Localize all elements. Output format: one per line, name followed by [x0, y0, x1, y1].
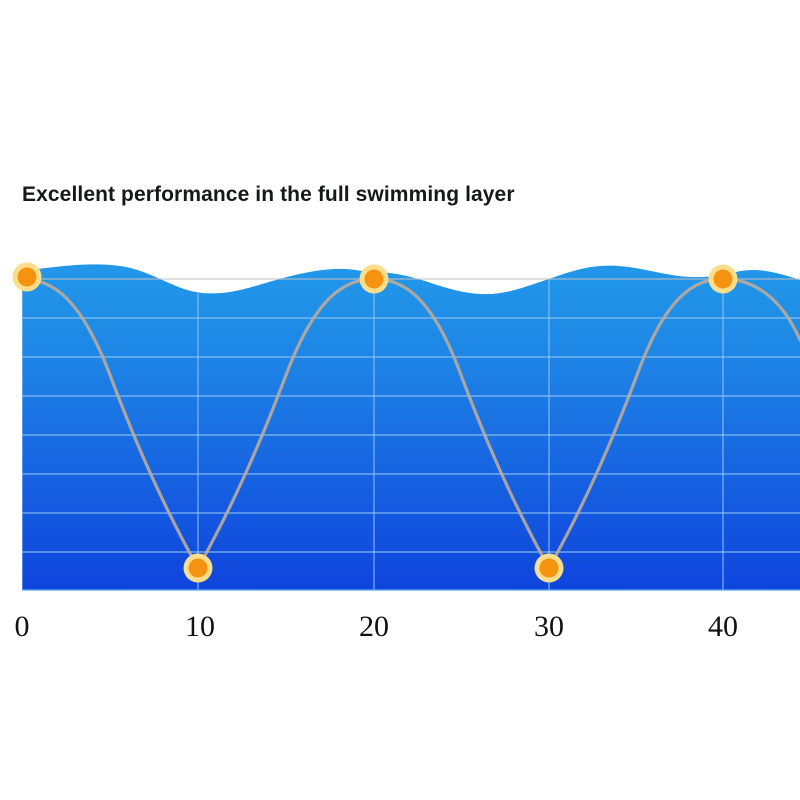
chart-container: Excellent performance in the full swimmi… — [0, 0, 800, 800]
data-point-marker-0 — [13, 263, 42, 292]
x-tick-label-40: 40 — [708, 612, 738, 642]
data-point-marker-40 — [709, 265, 738, 294]
x-tick-label-20: 20 — [359, 612, 389, 642]
x-tick-label-30: 30 — [534, 612, 564, 642]
x-tick-label-0: 0 — [15, 612, 30, 642]
data-point-marker-10 — [184, 554, 213, 583]
data-point-marker-20 — [360, 265, 389, 294]
x-tick-label-10: 10 — [185, 612, 215, 642]
data-point-marker-30 — [535, 554, 564, 583]
water-line-chart-plot — [0, 0, 800, 800]
